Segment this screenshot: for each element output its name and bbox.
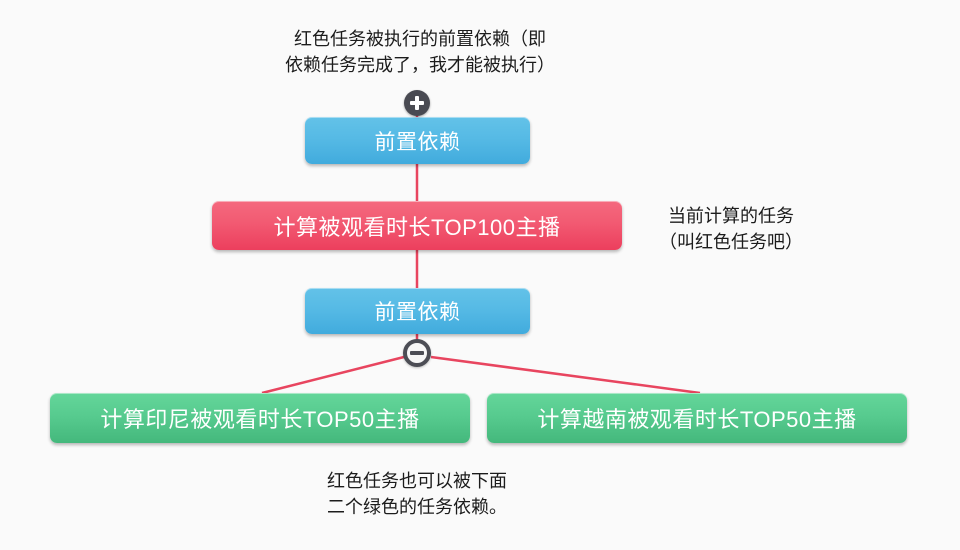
minus-icon[interactable] (403, 339, 431, 367)
node-label: 计算被观看时长TOP100主播 (273, 210, 560, 242)
node-label: 前置依赖 (375, 296, 461, 326)
node-downstream-dependency[interactable]: 前置依赖 (305, 288, 530, 334)
node-label: 计算印尼被观看时长TOP50主播 (100, 402, 419, 434)
node-dependent-vietnam[interactable]: 计算越南被观看时长TOP50主播 (487, 393, 907, 443)
current-task-annotation: 当前计算的任务 （叫红色任务吧） (636, 203, 826, 255)
bottom-annotation: 红色任务也可以被下面 二个绿色的任务依赖。 (327, 468, 627, 520)
node-label: 前置依赖 (375, 126, 461, 156)
node-upstream-dependency[interactable]: 前置依赖 (305, 117, 530, 164)
diagram-canvas: 红色任务被执行的前置依赖（即 依赖任务完成了，我才能被执行） 前置依赖 计算被观… (0, 0, 960, 550)
plus-icon[interactable] (404, 90, 430, 116)
title-annotation: 红色任务被执行的前置依赖（即 依赖任务完成了，我才能被执行） (255, 26, 585, 78)
node-dependent-indonesia[interactable]: 计算印尼被观看时长TOP50主播 (50, 393, 470, 443)
node-current-task[interactable]: 计算被观看时长TOP100主播 (212, 201, 622, 250)
node-label: 计算越南被观看时长TOP50主播 (537, 402, 856, 434)
